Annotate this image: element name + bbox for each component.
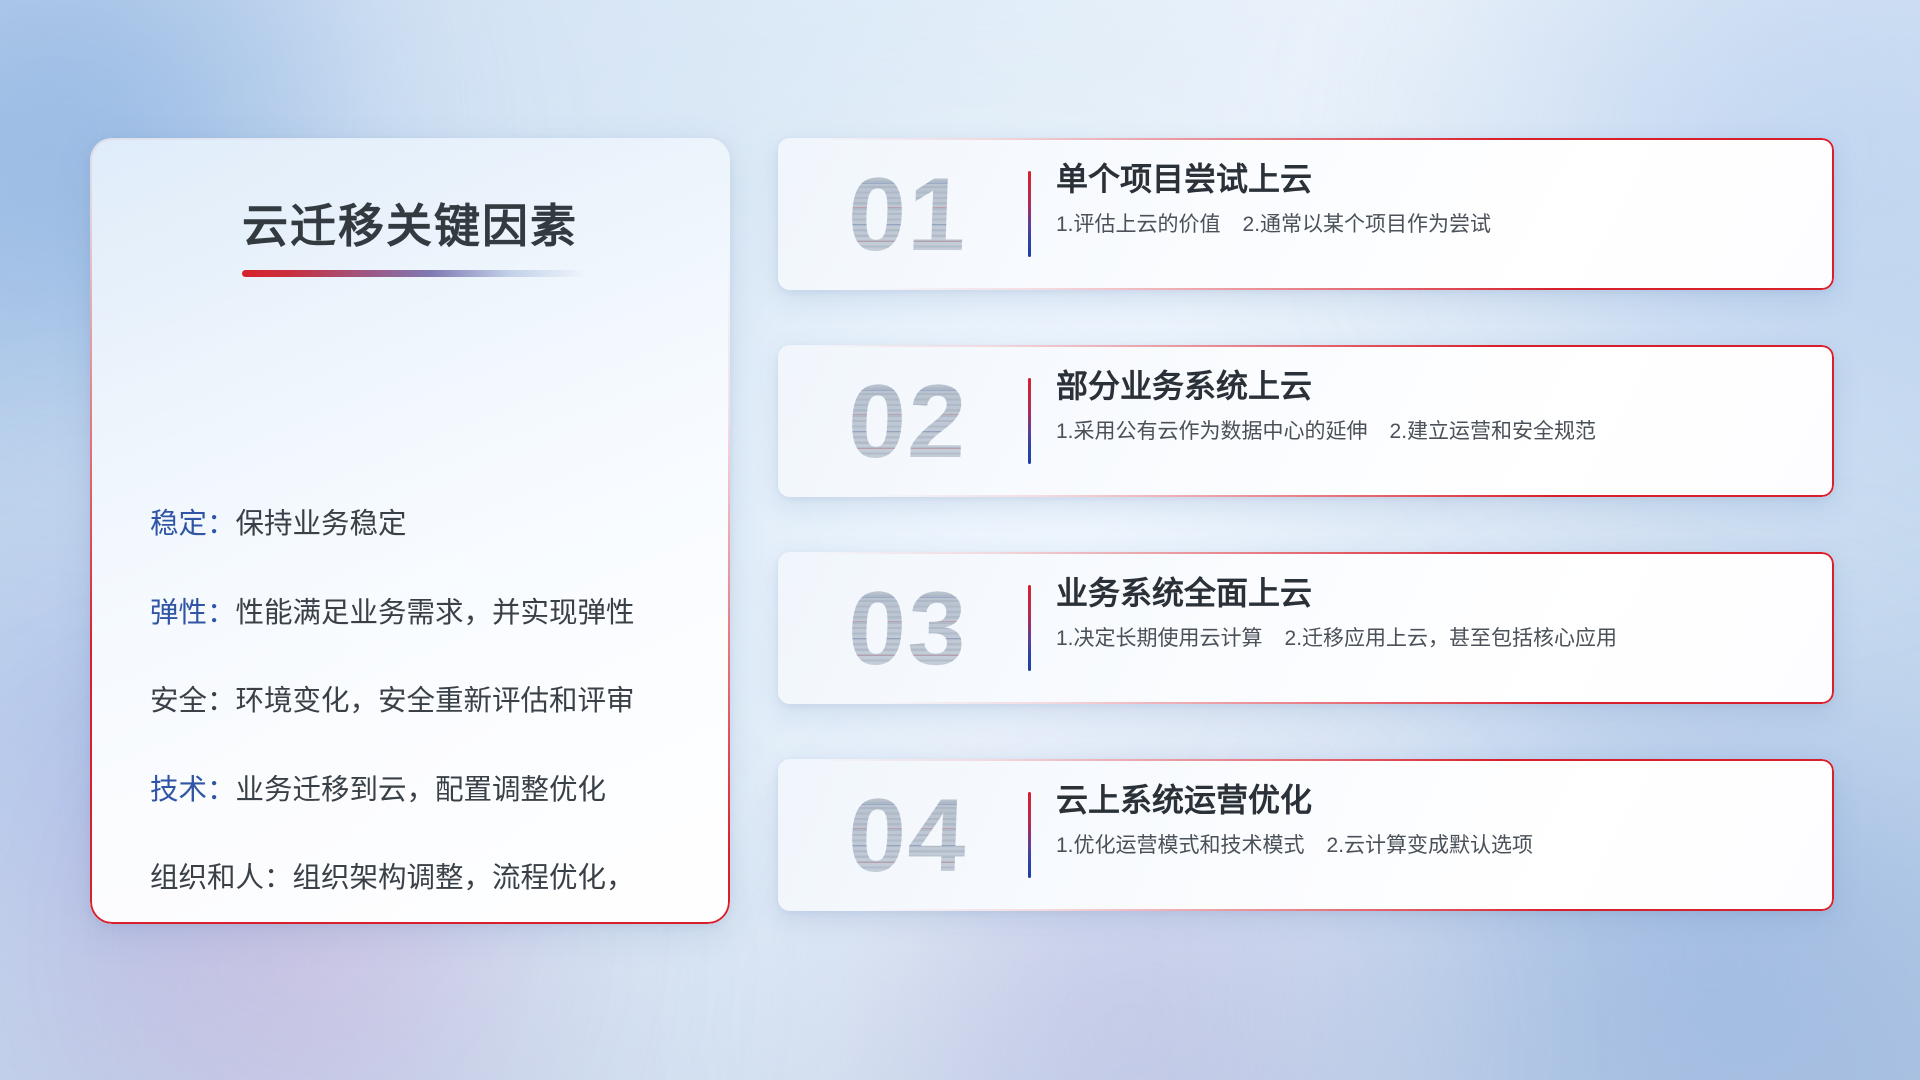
stage-card-body: 业务系统全面上云 1.决定长期使用云计算2.迁移应用上云，甚至包括核心应用 [1056,574,1808,653]
stage-card[interactable]: 04 云上系统运营优化 1.优化运营模式和技术模式2.云计算变成默认选项 [778,759,1834,911]
factor-text: 环境变化，安全重新评估和评审 [236,685,635,717]
stage-points: 1.优化运营模式和技术模式2.云计算变成默认选项 [1056,833,1808,859]
stage-card[interactable]: 03 业务系统全面上云 1.决定长期使用云计算2.迁移应用上云，甚至包括核心应用 [778,552,1834,704]
stage-divider-bar [1028,585,1031,671]
key-factors-panel: 云迁移关键因素 稳定：保持业务稳定 弹性：性能满足业务需求，并实现弹性 安全：环… [90,138,730,924]
stage-title: 单个项目尝试上云 [1056,160,1808,198]
factor-label: 组织和人： [150,862,293,894]
stage-point-1: 1.决定长期使用云计算 [1056,627,1263,650]
stage-number: 01 [810,150,1007,280]
stage-card-body: 部分业务系统上云 1.采用公有云作为数据中心的延伸2.建立运营和安全规范 [1056,367,1808,446]
stage-number: 03 [810,564,1007,694]
factor-text: 组织架构调整，流程优化， [293,862,635,894]
factor-label: 安全： [150,685,236,717]
stage-divider-bar [1028,171,1031,257]
stage-divider-bar [1028,792,1031,878]
stage-points: 1.评估上云的价值2.通常以某个项目作为尝试 [1056,212,1808,238]
stage-point-2: 2.通常以某个项目作为尝试 [1243,213,1492,236]
stage-points: 1.决定长期使用云计算2.迁移应用上云，甚至包括核心应用 [1056,626,1808,652]
stage-point-1: 1.采用公有云作为数据中心的延伸 [1056,420,1368,443]
stage-points: 1.采用公有云作为数据中心的延伸2.建立运营和安全规范 [1056,419,1808,445]
factor-label: 技术： [150,774,236,806]
stage-point-2: 2.迁移应用上云，甚至包括核心应用 [1285,627,1618,650]
stage-number: 04 [810,771,1007,901]
factor-text: 保持业务稳定 [236,508,407,540]
stage-divider-bar [1028,378,1031,464]
stage-card-body: 云上系统运营优化 1.优化运营模式和技术模式2.云计算变成默认选项 [1056,781,1808,860]
factor-label: 弹性： [150,597,236,629]
panel-title: 云迁移关键因素 [90,190,730,256]
factor-item-security: 安全：环境变化，安全重新评估和评审 [150,687,692,716]
stage-point-1: 1.优化运营模式和技术模式 [1056,834,1305,857]
factor-item-stability: 稳定：保持业务稳定 [150,510,692,539]
factor-label: 稳定： [150,508,236,540]
factor-text: 业务迁移到云，配置调整优化 [236,774,607,806]
stage-card[interactable]: 01 单个项目尝试上云 1.评估上云的价值2.通常以某个项目作为尝试 [778,138,1834,290]
title-underline-accent [242,270,586,277]
stage-number: 02 [810,357,1007,487]
stage-point-2: 2.建立运营和安全规范 [1390,420,1597,443]
stage-title: 云上系统运营优化 [1056,781,1808,819]
factor-list: 稳定：保持业务稳定 弹性：性能满足业务需求，并实现弹性 安全：环境变化，安全重新… [150,510,692,924]
factor-item-technology: 技术：业务迁移到云，配置调整优化 [150,776,692,805]
stage-point-2: 2.云计算变成默认选项 [1327,834,1534,857]
stage-title: 业务系统全面上云 [1056,574,1808,612]
stage-card-body: 单个项目尝试上云 1.评估上云的价值2.通常以某个项目作为尝试 [1056,160,1808,239]
stage-point-1: 1.评估上云的价值 [1056,213,1221,236]
stage-card[interactable]: 02 部分业务系统上云 1.采用公有云作为数据中心的延伸2.建立运营和安全规范 [778,345,1834,497]
factor-item-elasticity: 弹性：性能满足业务需求，并实现弹性 [150,599,692,628]
factor-item-organization: 组织和人：组织架构调整，流程优化， [150,864,692,893]
stage-card-list: 01 单个项目尝试上云 1.评估上云的价值2.通常以某个项目作为尝试 02 部分… [778,138,1834,911]
stage-title: 部分业务系统上云 [1056,367,1808,405]
factor-text: 性能满足业务需求，并实现弹性 [236,597,635,629]
